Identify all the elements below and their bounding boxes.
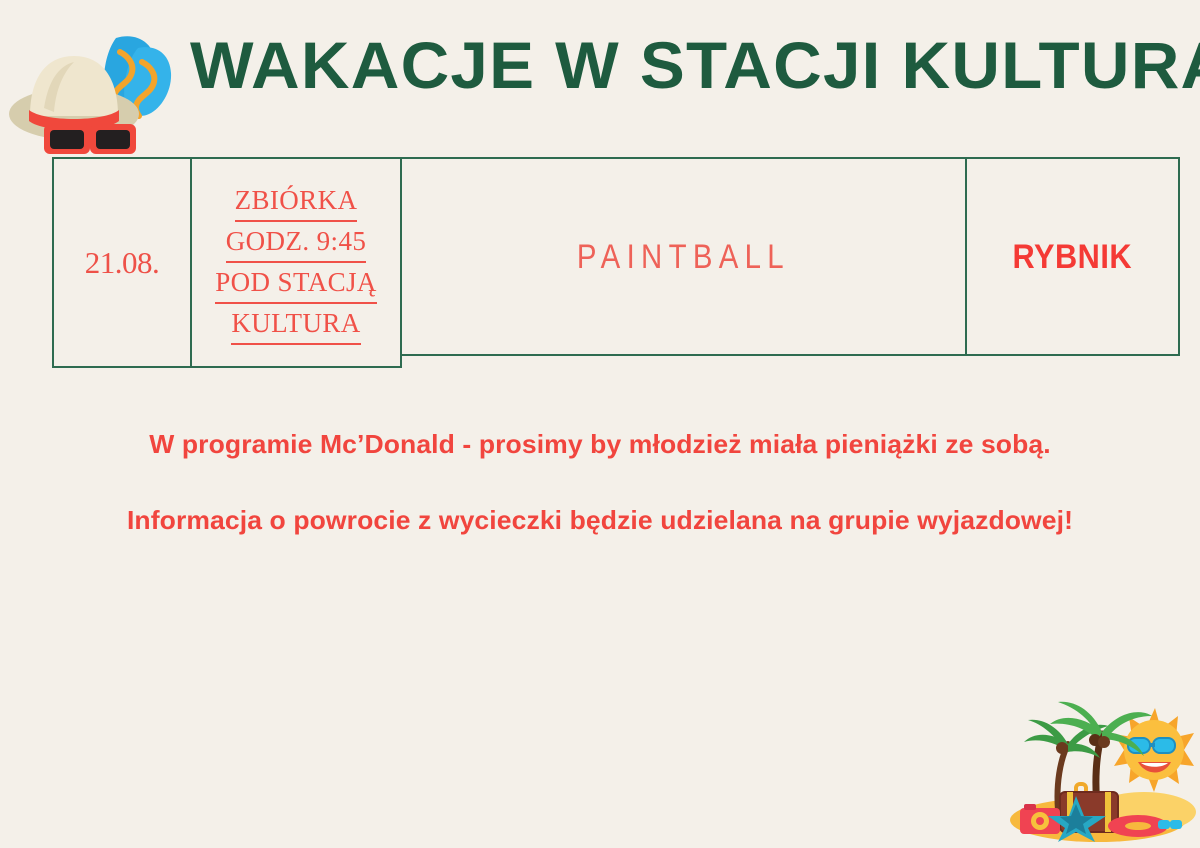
schedule-table: 21.08. ZBIÓRKA GODZ. 9:45 POD STACJĄ KUL… — [52, 157, 1180, 368]
page-title: WAKACJE W STACJI KULTURA — [190, 27, 1169, 103]
poster-canvas: WAKACJE W STACJI KULTURA 21.08. ZBIÓRKA … — [0, 0, 1200, 848]
table-cell-meeting-point: ZBIÓRKA GODZ. 9:45 POD STACJĄ KULTURA — [190, 157, 402, 368]
beach-palm-sun-suitcase-icon — [998, 692, 1194, 844]
activity-name: PAINTBALL — [577, 237, 790, 276]
table-cell-date: 21.08. — [52, 157, 192, 368]
sun-hat-sunglasses-flipflops-icon — [4, 26, 174, 154]
meeting-line-2: GODZ. 9:45 — [226, 222, 367, 263]
note-line-return-info: Informacja o powrocie z wycieczki będzie… — [0, 488, 1200, 552]
notes-section: W programie Mc’Donald - prosimy by młodz… — [0, 412, 1200, 552]
trip-date: 21.08. — [85, 246, 160, 280]
meeting-line-4: KULTURA — [231, 304, 360, 345]
poster-header: WAKACJE W STACJI KULTURA — [0, 0, 1200, 155]
meeting-line-1: ZBIÓRKA — [235, 181, 358, 222]
meeting-line-3: POD STACJĄ — [215, 263, 377, 304]
place-name: RYBNIK — [1013, 237, 1133, 277]
table-cell-place: RYBNIK — [965, 157, 1180, 356]
table-cell-activity: PAINTBALL — [400, 157, 967, 356]
meeting-point-text: ZBIÓRKA GODZ. 9:45 POD STACJĄ KULTURA — [209, 181, 383, 345]
note-line-program: W programie Mc’Donald - prosimy by młodz… — [0, 412, 1200, 476]
